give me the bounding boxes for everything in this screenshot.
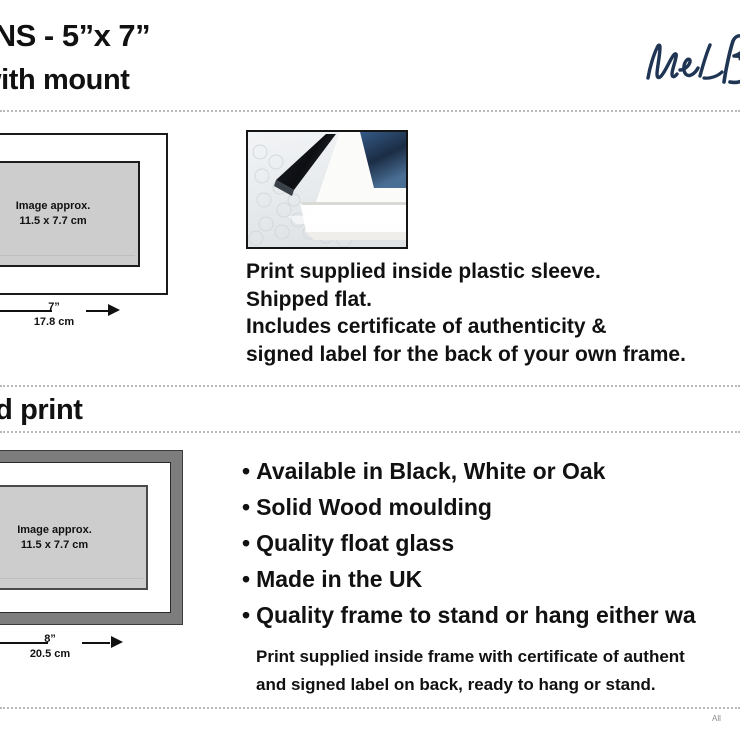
dimension-line-right: [82, 642, 110, 644]
list-item-label: Available in Black, White or Oak: [256, 458, 605, 484]
list-item-label: Quality frame to stand or hang either wa: [256, 602, 696, 628]
divider-bottom: [0, 707, 740, 709]
frame-detail-line-1: Print supplied inside frame with certifi…: [256, 643, 685, 671]
list-item-label: Quality float glass: [256, 530, 454, 556]
mount-diagram: Image approx. 11.5 x 7.7 cm: [0, 133, 168, 295]
mount-width-dimension: 7” 17.8 cm: [0, 302, 180, 336]
mount-image-label-line1: Image approx.: [0, 199, 138, 214]
mount-detail-line-3: Includes certificate of authenticity &: [246, 313, 686, 341]
mount-details-text: Print supplied inside plastic sleeve. Sh…: [246, 258, 686, 368]
frame-image-label-line2: 11.5 x 7.7 cm: [0, 538, 146, 553]
frame-details-text: Print supplied inside frame with certifi…: [256, 643, 685, 699]
frame-dimension-cm: 20.5 cm: [16, 648, 84, 660]
mount-dimension-inches: 7”: [36, 301, 72, 313]
mount-detail-line-4: signed label for the back of your own fr…: [246, 341, 686, 369]
mount-detail-line-2: Shipped flat.: [246, 286, 686, 314]
frame-image-caption-strip: [0, 578, 143, 585]
list-item: •Solid Wood moulding: [242, 489, 696, 525]
brand-signature-logo: NB: [640, 32, 740, 94]
mount-image-caption-strip: [0, 255, 135, 262]
divider-top: [0, 110, 740, 112]
list-item: •Quality float glass: [242, 525, 696, 561]
frame-image-label-line1: Image approx.: [0, 523, 146, 538]
page-subtitle: t with mount: [0, 64, 130, 97]
mount-image-area: Image approx. 11.5 x 7.7 cm: [0, 161, 140, 267]
list-item: •Made in the UK: [242, 561, 696, 597]
page-title: IONS - 5”x 7”: [0, 18, 150, 54]
frame-image-label: Image approx. 11.5 x 7.7 cm: [0, 523, 146, 553]
bullet-icon: •: [242, 602, 250, 628]
frame-mount-area: Image approx. 11.5 x 7.7 cm: [0, 462, 171, 613]
bullet-icon: •: [242, 458, 250, 484]
frame-feature-list: •Available in Black, White or Oak •Solid…: [242, 453, 696, 633]
divider-mid-lower: [0, 431, 740, 433]
mount-caption-right: [131, 257, 132, 262]
bullet-icon: •: [242, 566, 250, 592]
dimension-arrowhead-icon: [111, 636, 123, 648]
mount-detail-line-1: Print supplied inside plastic sleeve.: [246, 258, 686, 286]
bullet-icon: •: [242, 530, 250, 556]
list-item-label: Made in the UK: [256, 566, 422, 592]
frame-detail-line-2: and signed label on back, ready to hang …: [256, 671, 685, 699]
product-info-page: IONS - 5”x 7” t with mount NB Image appr…: [0, 0, 740, 736]
list-item: •Available in Black, White or Oak: [242, 453, 696, 489]
dimension-arrowhead-icon: [108, 304, 120, 316]
framed-print-title: med print: [0, 394, 83, 427]
frame-caption-right: [139, 580, 140, 585]
list-item: •Quality frame to stand or hang either w…: [242, 597, 696, 633]
mount-image-label: Image approx. 11.5 x 7.7 cm: [0, 199, 138, 229]
mount-dimension-cm: 17.8 cm: [22, 316, 86, 328]
mount-image-label-line2: 11.5 x 7.7 cm: [0, 214, 138, 229]
bullet-icon: •: [242, 494, 250, 520]
mounted-prints-photo: [246, 130, 408, 249]
frame-dimension-inches: 8”: [32, 633, 68, 645]
list-item-label: Solid Wood moulding: [256, 494, 492, 520]
frame-image-area: Image approx. 11.5 x 7.7 cm: [0, 485, 148, 590]
frame-diagram: Image approx. 11.5 x 7.7 cm: [0, 450, 183, 625]
frame-width-dimension: 8” 20.5 cm: [0, 634, 188, 668]
footnote-text: All: [712, 714, 721, 723]
divider-mid-upper: [0, 385, 740, 387]
